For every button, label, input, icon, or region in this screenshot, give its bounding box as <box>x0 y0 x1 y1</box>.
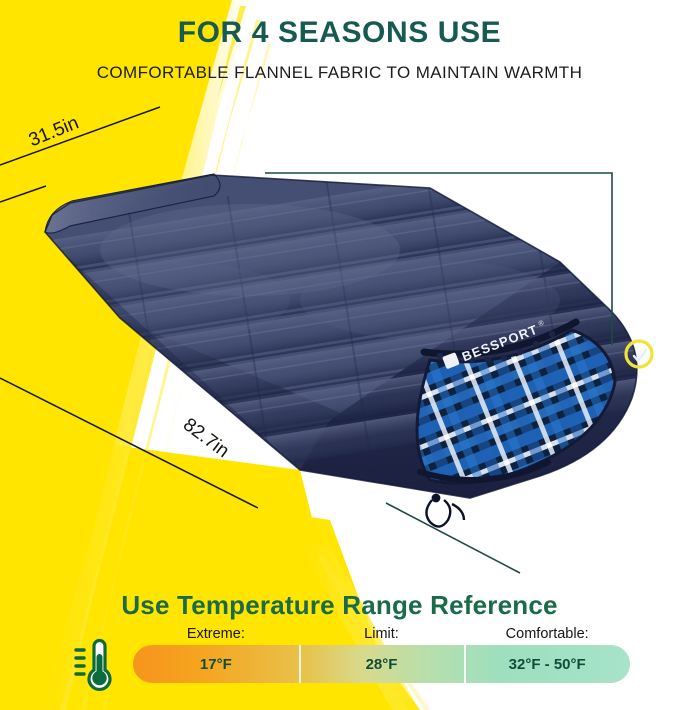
temperature-label-limit: Limit: <box>299 626 465 642</box>
page-title: FOR 4 SEASONS USE <box>0 16 679 50</box>
temperature-value-comfortable: 32°F - 50°F <box>464 645 630 683</box>
drawcord-icon <box>426 495 464 527</box>
temperature-gradient-bar: 17°F 28°F 32°F - 50°F <box>133 645 630 683</box>
temperature-scale-labels: Extreme: Limit: Comfortable: <box>133 626 630 642</box>
temperature-label-extreme: Extreme: <box>133 626 299 642</box>
thermometer-icon <box>62 634 120 692</box>
temperature-value-limit: 28°F <box>299 645 465 683</box>
temperature-section-heading: Use Temperature Range Reference <box>0 590 679 621</box>
page-subtitle: COMFORTABLE FLANNEL FABRIC TO MAINTAIN W… <box>0 63 679 83</box>
temperature-scale: Extreme: Limit: Comfortable: 17°F 28°F 3… <box>133 626 630 683</box>
temperature-value-extreme: 17°F <box>133 645 299 683</box>
infographic-canvas: BESSPORT ® FOR 4 SEASONS USE COMFORTABLE… <box>0 0 679 710</box>
temperature-label-comfortable: Comfortable: <box>464 626 630 642</box>
